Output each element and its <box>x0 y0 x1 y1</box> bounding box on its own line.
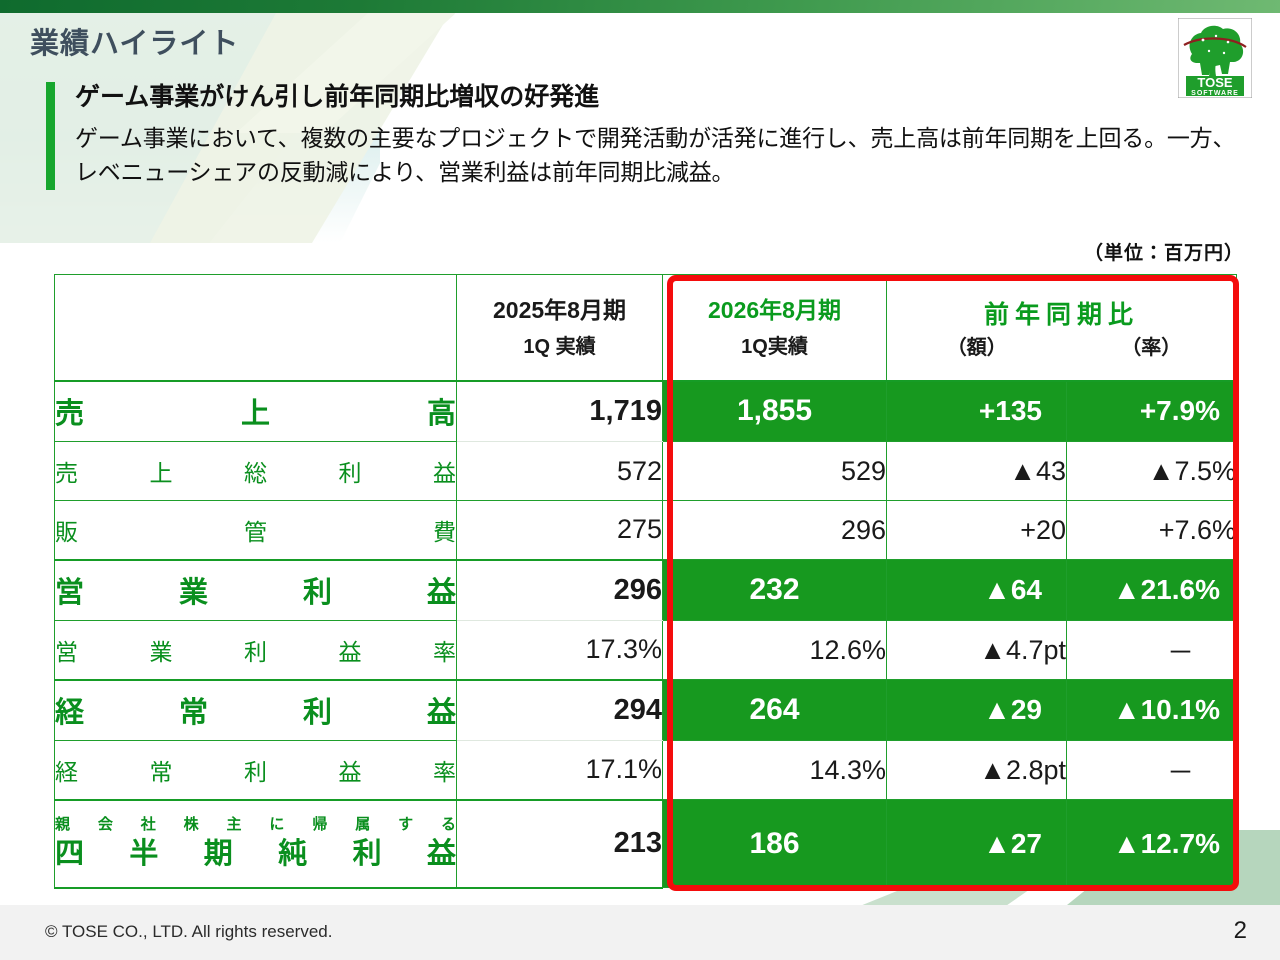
tose-logo: TOSE SOFTWARE <box>1178 18 1252 98</box>
row-prev-gross-profit: 572 <box>457 442 663 501</box>
row-amount-net-income: ▲27 <box>887 800 1067 888</box>
row-rate-ordinary-margin: － <box>1067 741 1237 800</box>
header-curr-line1: 2026年8月期 <box>663 293 886 328</box>
row-label-text: 売上総利益 <box>55 454 456 488</box>
row-prev-net-income: 213 <box>457 800 663 888</box>
header-prev-line1: 2025年8月期 <box>457 293 662 328</box>
header-yoy-amount: （額） <box>947 337 1007 359</box>
row-curr-operating-margin: 12.6% <box>663 621 887 680</box>
table-row: 販管費 275 296 +20 +7.6% <box>55 501 1237 560</box>
logo-sub-wordmark: SOFTWARE <box>1191 90 1239 97</box>
row-label-text: 営業利益率 <box>55 633 456 667</box>
row-rate-operating-margin: － <box>1067 621 1237 680</box>
row-amount-gross-profit: ▲43 <box>887 442 1067 501</box>
financial-table: 2025年8月期 1Q 実績 2026年8月期 1Q実績 前年同期比 （額） <box>54 274 1237 889</box>
table-row: 営業利益率 17.3% 12.6% ▲4.7pt － <box>55 621 1237 680</box>
row-amount-operating-margin: ▲4.7pt <box>887 621 1067 680</box>
row-curr-net-income: 186 <box>663 800 887 888</box>
row-amount-ordinary-income: ▲29 <box>887 680 1067 741</box>
row-rate-net-income: ▲12.7% <box>1067 800 1237 888</box>
row-prev-sga: 275 <box>457 501 663 560</box>
row-label-net-income-prefix: 親会社株主に帰属する <box>55 816 456 835</box>
page-number: 2 <box>1234 917 1247 945</box>
row-label-text: 売上高 <box>55 390 456 432</box>
row-prev-ordinary-income: 294 <box>457 680 663 741</box>
row-prev-sales: 1,719 <box>457 381 663 442</box>
row-amount-operating-income: ▲64 <box>887 560 1067 621</box>
row-label-text: 営業利益 <box>55 569 456 611</box>
row-curr-sga: 296 <box>663 501 887 560</box>
headline-accent-bar <box>46 82 55 190</box>
header-prev-line2: 1Q 実績 <box>457 332 662 362</box>
row-prev-operating-margin: 17.3% <box>457 621 663 680</box>
row-curr-ordinary-income: 264 <box>663 680 887 741</box>
headline-text-group: ゲーム事業がけん引し前年同期比増収の好発進 ゲーム事業において、複数の主要なプロ… <box>75 82 1246 190</box>
row-label-sga: 販管費 <box>55 501 457 560</box>
row-label-ordinary-margin: 経常利益率 <box>55 741 457 800</box>
table-row: 売上高 1,719 1,855 +135 +7.9% <box>55 381 1237 442</box>
headline-body: ゲーム事業において、複数の主要なプロジェクトで開発活動が活発に進行し、売上高は前… <box>75 122 1246 190</box>
header-curr-period: 2026年8月期 1Q実績 <box>663 275 887 381</box>
header-yoy-rate: （率） <box>1121 337 1181 359</box>
row-prev-ordinary-margin: 17.1% <box>457 741 663 800</box>
row-curr-ordinary-margin: 14.3% <box>663 741 887 800</box>
row-label-ordinary-income: 経常利益 <box>55 680 457 741</box>
row-label-gross-profit: 売上総利益 <box>55 442 457 501</box>
row-label-text: 経常利益 <box>55 689 456 731</box>
row-curr-gross-profit: 529 <box>663 442 887 501</box>
unit-note: （単位：百万円） <box>1084 238 1244 265</box>
table-row: 経常利益率 17.1% 14.3% ▲2.8pt － <box>55 741 1237 800</box>
slide-footer: © TOSE CO., LTD. All rights reserved. 2 <box>0 905 1280 960</box>
header-yoy-title: 前年同期比 <box>887 291 1236 333</box>
page-title: 業績ハイライト <box>30 20 239 62</box>
tree-logo-icon: TOSE SOFTWARE <box>1178 18 1252 98</box>
row-rate-sga: +7.6% <box>1067 501 1237 560</box>
row-label-text: 経常利益率 <box>55 753 456 787</box>
row-label-text: 販管費 <box>55 513 456 547</box>
row-rate-sales: +7.9% <box>1067 381 1237 442</box>
headline-title: ゲーム事業がけん引し前年同期比増収の好発進 <box>75 82 1246 113</box>
copyright-text: © TOSE CO., LTD. All rights reserved. <box>45 922 332 942</box>
row-curr-sales: 1,855 <box>663 381 887 442</box>
table-row: 親会社株主に帰属する 四半期純利益 213 186 ▲27 ▲12.7% <box>55 800 1237 888</box>
table-header-row: 2025年8月期 1Q 実績 2026年8月期 1Q実績 前年同期比 （額） <box>55 275 1237 381</box>
row-rate-ordinary-income: ▲10.1% <box>1067 680 1237 741</box>
header-curr-line2: 1Q実績 <box>663 332 886 362</box>
table-row: 売上総利益 572 529 ▲43 ▲7.5% <box>55 442 1237 501</box>
financial-table-body: 売上高 1,719 1,855 +135 +7.9% 売上総利益 572 529… <box>55 381 1237 888</box>
row-amount-sga: +20 <box>887 501 1067 560</box>
row-label-net-income: 親会社株主に帰属する 四半期純利益 <box>55 800 457 888</box>
row-label-operating-income: 営業利益 <box>55 560 457 621</box>
table-row: 経常利益 294 264 ▲29 ▲10.1% <box>55 680 1237 741</box>
header-blank-cell <box>55 275 457 381</box>
financial-table-wrap: 2025年8月期 1Q 実績 2026年8月期 1Q実績 前年同期比 （額） <box>54 274 1236 889</box>
row-amount-sales: +135 <box>887 381 1067 442</box>
row-rate-operating-income: ▲21.6% <box>1067 560 1237 621</box>
row-label-net-income-main: 四半期純利益 <box>55 837 456 871</box>
header-yoy-group: 前年同期比 （額） （率） <box>887 275 1237 381</box>
row-prev-operating-income: 296 <box>457 560 663 621</box>
top-green-bar <box>0 0 1280 13</box>
header-prev-period: 2025年8月期 1Q 実績 <box>457 275 663 381</box>
logo-wordmark: TOSE <box>1197 75 1232 90</box>
row-curr-operating-income: 232 <box>663 560 887 621</box>
row-label-operating-margin: 営業利益率 <box>55 621 457 680</box>
row-amount-ordinary-margin: ▲2.8pt <box>887 741 1067 800</box>
row-label-sales: 売上高 <box>55 381 457 442</box>
slide-root: 業績ハイライト TOSE SOFTWARE ゲーム事業がけん引し前年同期比増収の… <box>0 0 1280 960</box>
table-row: 営業利益 296 232 ▲64 ▲21.6% <box>55 560 1237 621</box>
row-rate-gross-profit: ▲7.5% <box>1067 442 1237 501</box>
headline-block: ゲーム事業がけん引し前年同期比増収の好発進 ゲーム事業において、複数の主要なプロ… <box>46 82 1246 190</box>
